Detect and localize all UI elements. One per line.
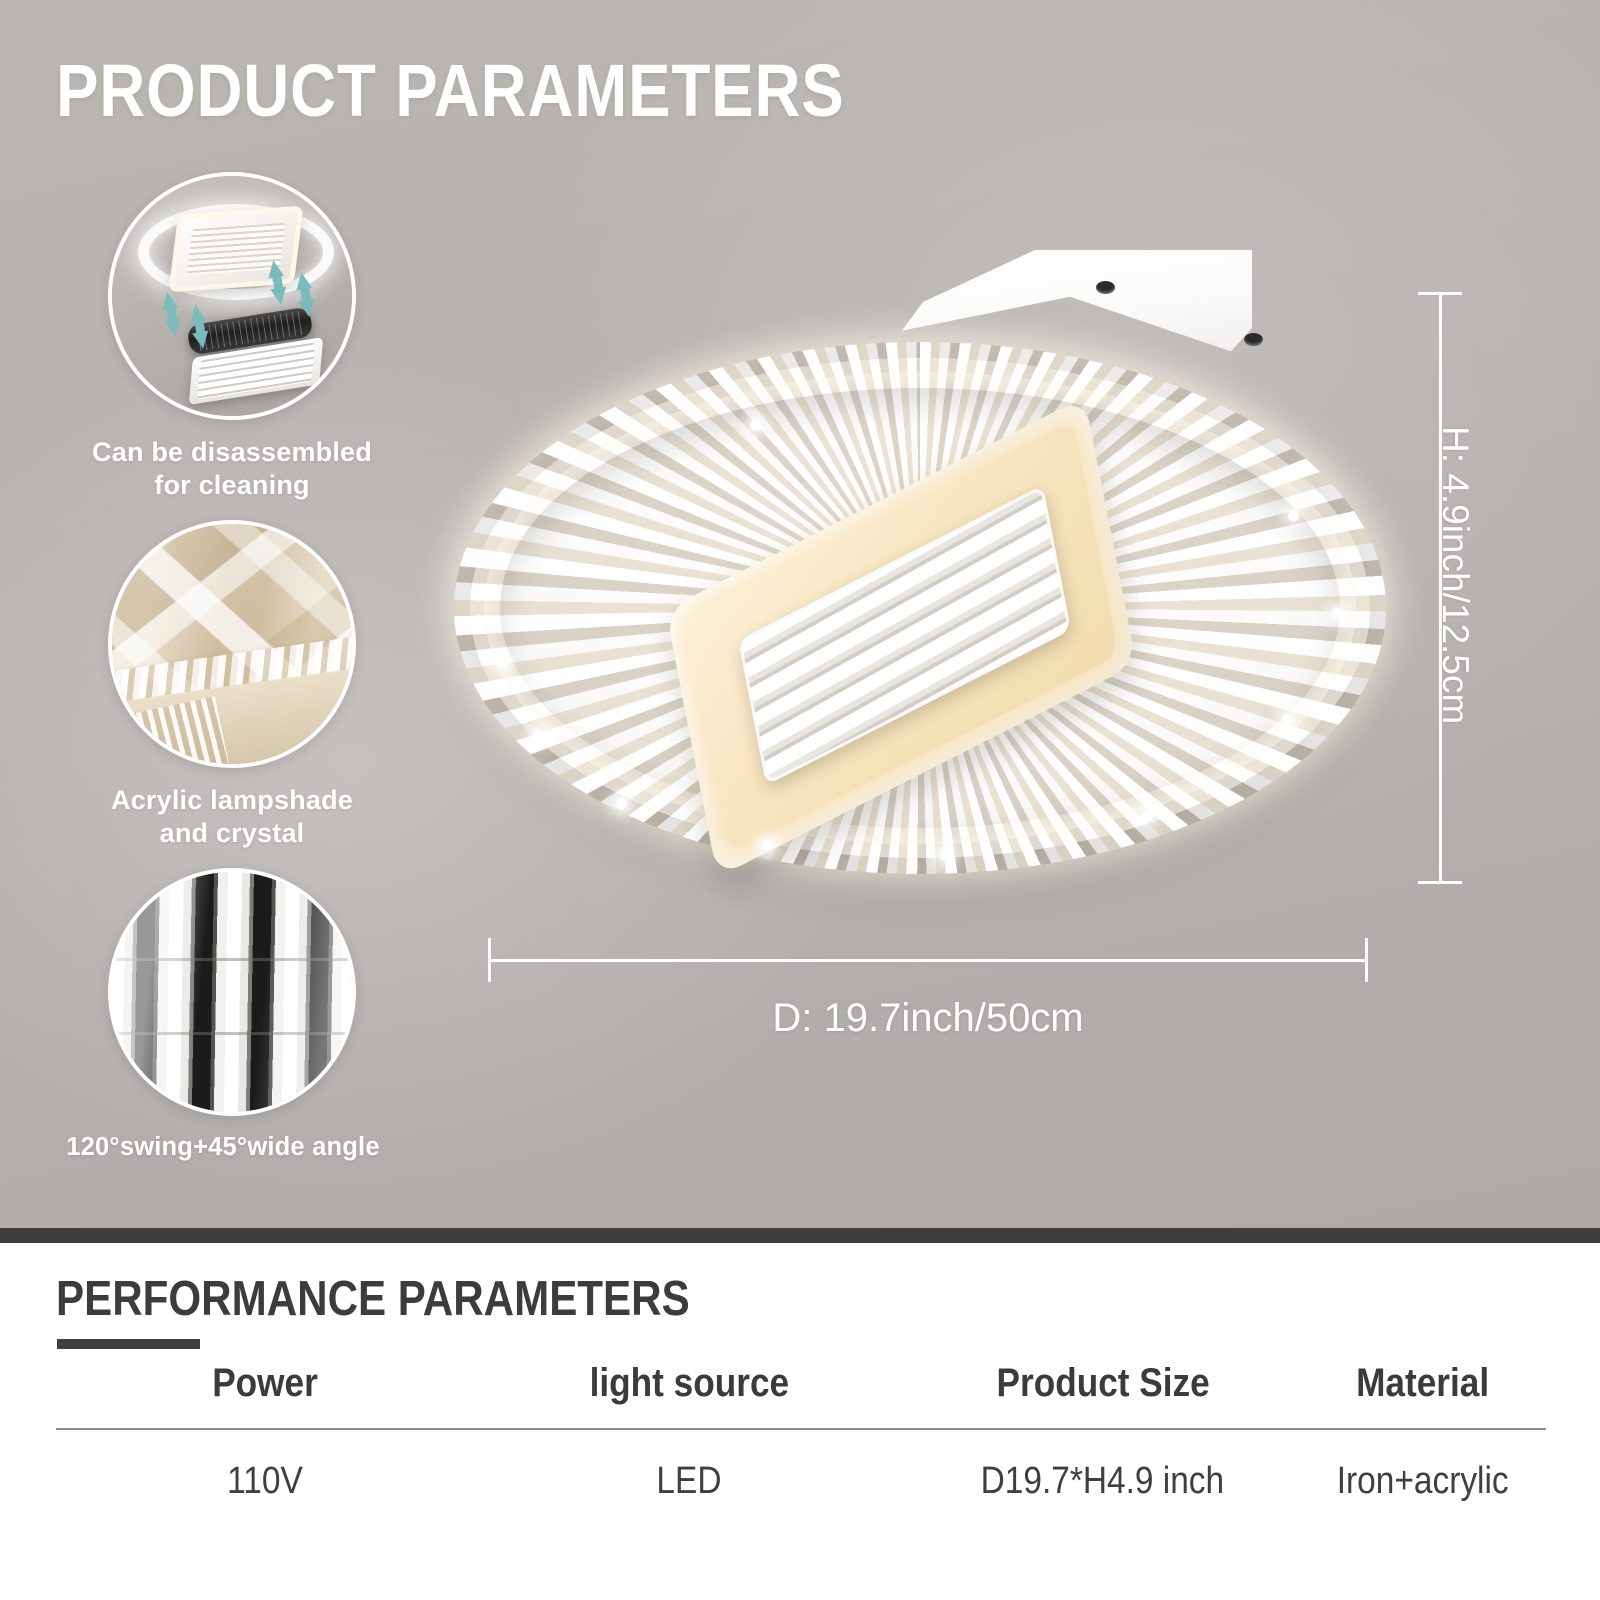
sparkle-icon — [1288, 510, 1299, 521]
column-header-light-source: light source — [473, 1361, 905, 1428]
cell-value: Iron+acrylic — [1337, 1460, 1509, 1503]
column-header-product-size: Product Size — [905, 1361, 1300, 1428]
sparkle-icon — [940, 850, 951, 861]
dimension-stem — [488, 959, 1368, 962]
diameter-dimension-line — [488, 938, 1368, 982]
dimension-cap — [1365, 938, 1368, 982]
section-divider — [0, 1228, 1600, 1243]
column-header-label: light source — [589, 1361, 788, 1406]
screw-hole-icon — [1244, 333, 1263, 346]
exploded-assembly-photo — [108, 172, 356, 420]
product-parameters-section: PRODUCT PARAMETERS Can be disassembled f… — [0, 0, 1600, 1228]
feature-callout-swing-angle: 120°swing+45°wide angle — [62, 868, 402, 1164]
cell-power: 110V — [56, 1430, 473, 1503]
sparkle-icon — [616, 798, 627, 809]
cell-light-source: LED — [473, 1430, 905, 1503]
height-dimension-label: H: 4.9inch/12.5cm — [1434, 426, 1476, 724]
sparkle-icon — [1332, 608, 1343, 619]
sparkle-icon — [532, 730, 543, 741]
crystal-macro-photo — [108, 520, 356, 768]
cell-material: Iron+acrylic — [1300, 1430, 1546, 1503]
title-underline — [57, 1339, 200, 1349]
spec-table: Power light source Product Size Material… — [56, 1361, 1546, 1503]
feature-caption-line1: Acrylic lampshade — [62, 784, 402, 817]
sparkle-icon — [750, 420, 761, 431]
performance-parameters-section: PERFORMANCE PARAMETERS Power light sourc… — [0, 1243, 1600, 1600]
feature-caption-line2: and crystal — [62, 817, 402, 850]
feature-caption: Acrylic lampshade and crystal — [62, 784, 402, 851]
feature-caption: Can be disassembled for cleaning — [62, 436, 402, 503]
feature-caption-line2: for cleaning — [62, 469, 402, 502]
diameter-dimension-label: D: 19.7inch/50cm — [488, 996, 1368, 1041]
column-header-label: Power — [212, 1361, 318, 1406]
cell-value: LED — [657, 1460, 722, 1503]
feature-caption-line1: Can be disassembled — [62, 436, 402, 469]
sparkle-icon — [1282, 714, 1293, 725]
column-header-label: Material — [1357, 1361, 1490, 1406]
table-row: 110V LED D19.7*H4.9 inch Iron+acrylic — [56, 1430, 1546, 1503]
column-header-power: Power — [56, 1361, 473, 1428]
sparkle-icon — [496, 658, 507, 669]
lamp-ring-assembly — [470, 358, 1370, 858]
feature-caption-line1: 120°swing+45°wide angle — [44, 1132, 402, 1164]
column-header-material: Material — [1300, 1361, 1546, 1428]
cell-value: D19.7*H4.9 inch — [981, 1460, 1225, 1503]
screw-hole-icon — [1096, 281, 1115, 294]
page-title: PRODUCT PARAMETERS — [56, 48, 845, 133]
photo-highlight — [112, 872, 352, 1112]
feature-callout-crystal: Acrylic lampshade and crystal — [62, 520, 402, 851]
cell-product-size: D19.7*H4.9 inch — [905, 1430, 1300, 1503]
sparkle-icon — [762, 840, 773, 851]
dimension-cap — [1418, 881, 1462, 884]
column-header-label: Product Size — [996, 1361, 1209, 1406]
feature-callout-disassemble: Can be disassembled for cleaning — [62, 172, 402, 503]
sparkle-icon — [1142, 810, 1153, 821]
section-title: PERFORMANCE PARAMETERS — [56, 1271, 690, 1327]
louver-blades-photo — [108, 868, 356, 1116]
table-header-row: Power light source Product Size Material — [56, 1361, 1546, 1428]
crystal-ring-ceiling-light — [452, 248, 1412, 908]
cell-value: 110V — [227, 1460, 303, 1503]
feature-caption: 120°swing+45°wide angle — [44, 1132, 402, 1164]
